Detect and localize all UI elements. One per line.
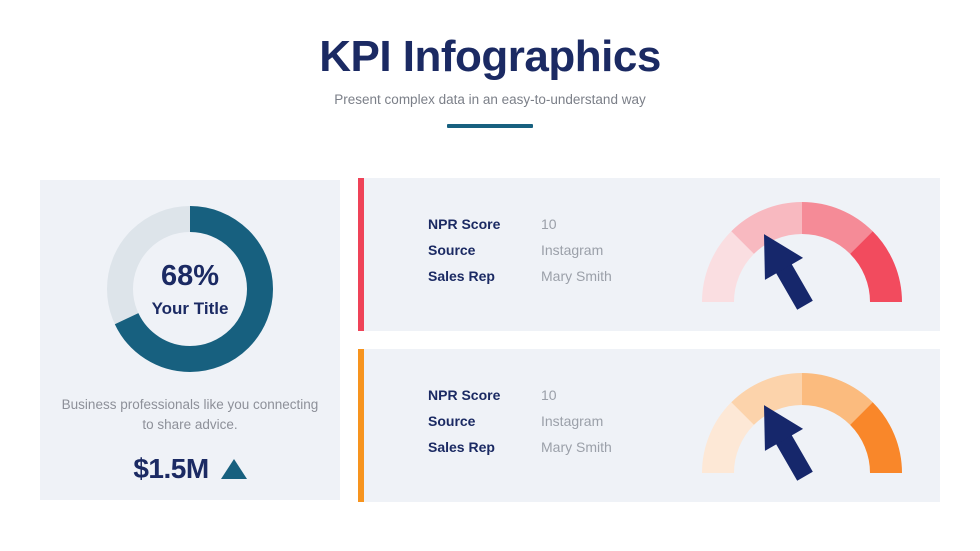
kpi-key-label: Source [428, 242, 541, 258]
donut-percent-value: 68% [161, 262, 219, 291]
kpi-card: NPR Score 10 Source Instagram Sales Rep … [358, 178, 940, 331]
donut-kpi-panel: 68% Your Title Business professionals li… [40, 180, 340, 500]
table-row: NPR Score 10 [428, 387, 612, 413]
kpi-value-label: 10 [541, 387, 557, 403]
gauge-chart [692, 367, 912, 487]
gauge-chart-svg [692, 367, 912, 487]
kpi-value-label: Instagram [541, 242, 603, 258]
page-title: KPI Infographics [0, 34, 980, 80]
table-row: Sales Rep Mary Smith [428, 268, 612, 294]
page-header: KPI Infographics Present complex data in… [0, 34, 980, 128]
card-accent-bar [358, 178, 364, 331]
title-underline-rule [447, 124, 533, 128]
table-row: Sales Rep Mary Smith [428, 439, 612, 465]
page-subtitle: Present complex data in an easy-to-under… [0, 92, 980, 108]
kpi-key-label: NPR Score [428, 216, 541, 232]
donut-center-labels: 68% Your Title [103, 202, 277, 376]
kpi-detail-table: NPR Score 10 Source Instagram Sales Rep … [428, 216, 612, 294]
table-row: Source Instagram [428, 242, 612, 268]
kpi-value-label: Mary Smith [541, 439, 612, 455]
kpi-key-label: NPR Score [428, 387, 541, 403]
kpi-value-label: Mary Smith [541, 268, 612, 284]
kpi-value-label: 10 [541, 216, 557, 232]
kpi-key-label: Source [428, 413, 541, 429]
gauge-chart [692, 196, 912, 316]
donut-title-label: Your Title [152, 300, 229, 317]
kpi-card: NPR Score 10 Source Instagram Sales Rep … [358, 349, 940, 502]
table-row: Source Instagram [428, 413, 612, 439]
kpi-key-label: Sales Rep [428, 268, 541, 284]
donut-metric-row: $1.5M [40, 455, 340, 483]
donut-chart: 68% Your Title [103, 202, 277, 376]
trend-up-triangle-icon [221, 459, 247, 479]
kpi-value-label: Instagram [541, 413, 603, 429]
gauge-chart-svg [692, 196, 912, 316]
kpi-key-label: Sales Rep [428, 439, 541, 455]
donut-metric-value: $1.5M [133, 455, 208, 483]
card-accent-bar [358, 349, 364, 502]
donut-description-text: Business professionals like you connecti… [60, 395, 320, 434]
kpi-detail-table: NPR Score 10 Source Instagram Sales Rep … [428, 387, 612, 465]
table-row: NPR Score 10 [428, 216, 612, 242]
